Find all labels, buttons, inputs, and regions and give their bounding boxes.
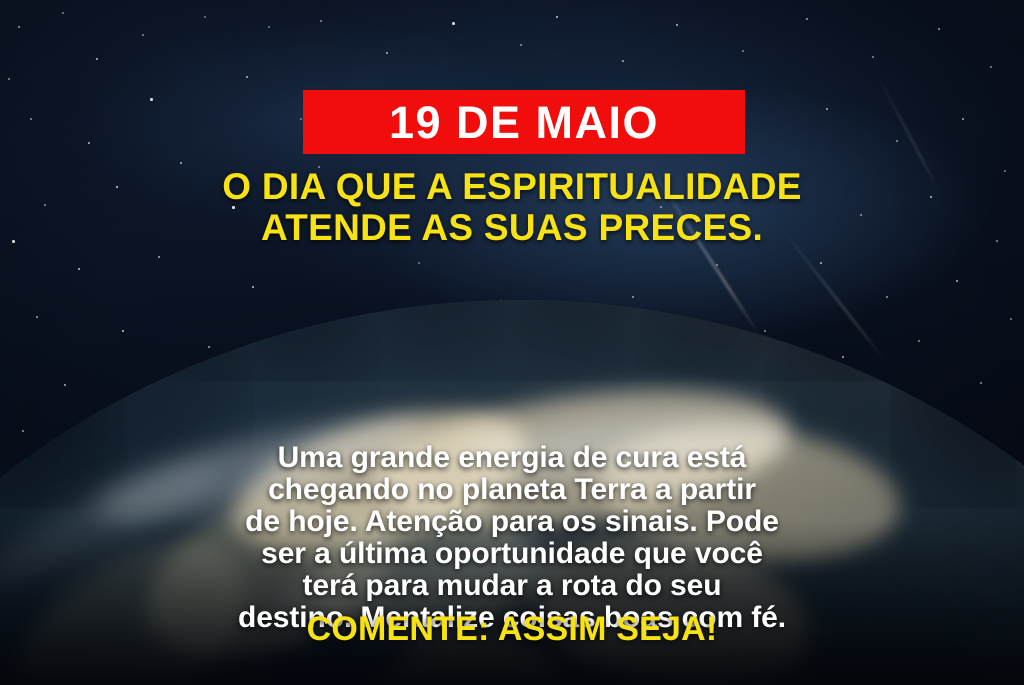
call-to-action-text: COMENTE: ASSIM SEJA! xyxy=(0,612,1024,646)
headline-line-2: ATENDE AS SUAS PRECES. xyxy=(0,207,1024,248)
date-banner: 19 DE MAIO xyxy=(303,90,745,154)
body-copy: Uma grande energia de cura está chegando… xyxy=(0,442,1024,635)
date-banner-text: 19 DE MAIO xyxy=(389,100,659,145)
poster-canvas: 19 DE MAIO O DIA QUE A ESPIRITUALIDADE A… xyxy=(0,0,1024,685)
body-line-4: ser a última oportunidade que você xyxy=(0,538,1024,570)
body-line-2: chegando no planeta Terra a partir xyxy=(0,474,1024,506)
body-line-3: de hoje. Atenção para os sinais. Pode xyxy=(0,506,1024,538)
body-line-1: Uma grande energia de cura está xyxy=(0,442,1024,474)
headline-line-1: O DIA QUE A ESPIRITUALIDADE xyxy=(0,166,1024,207)
body-line-5: terá para mudar a rota do seu xyxy=(0,570,1024,602)
headline: O DIA QUE A ESPIRITUALIDADE ATENDE AS SU… xyxy=(0,166,1024,249)
poster-content: 19 DE MAIO O DIA QUE A ESPIRITUALIDADE A… xyxy=(0,0,1024,685)
